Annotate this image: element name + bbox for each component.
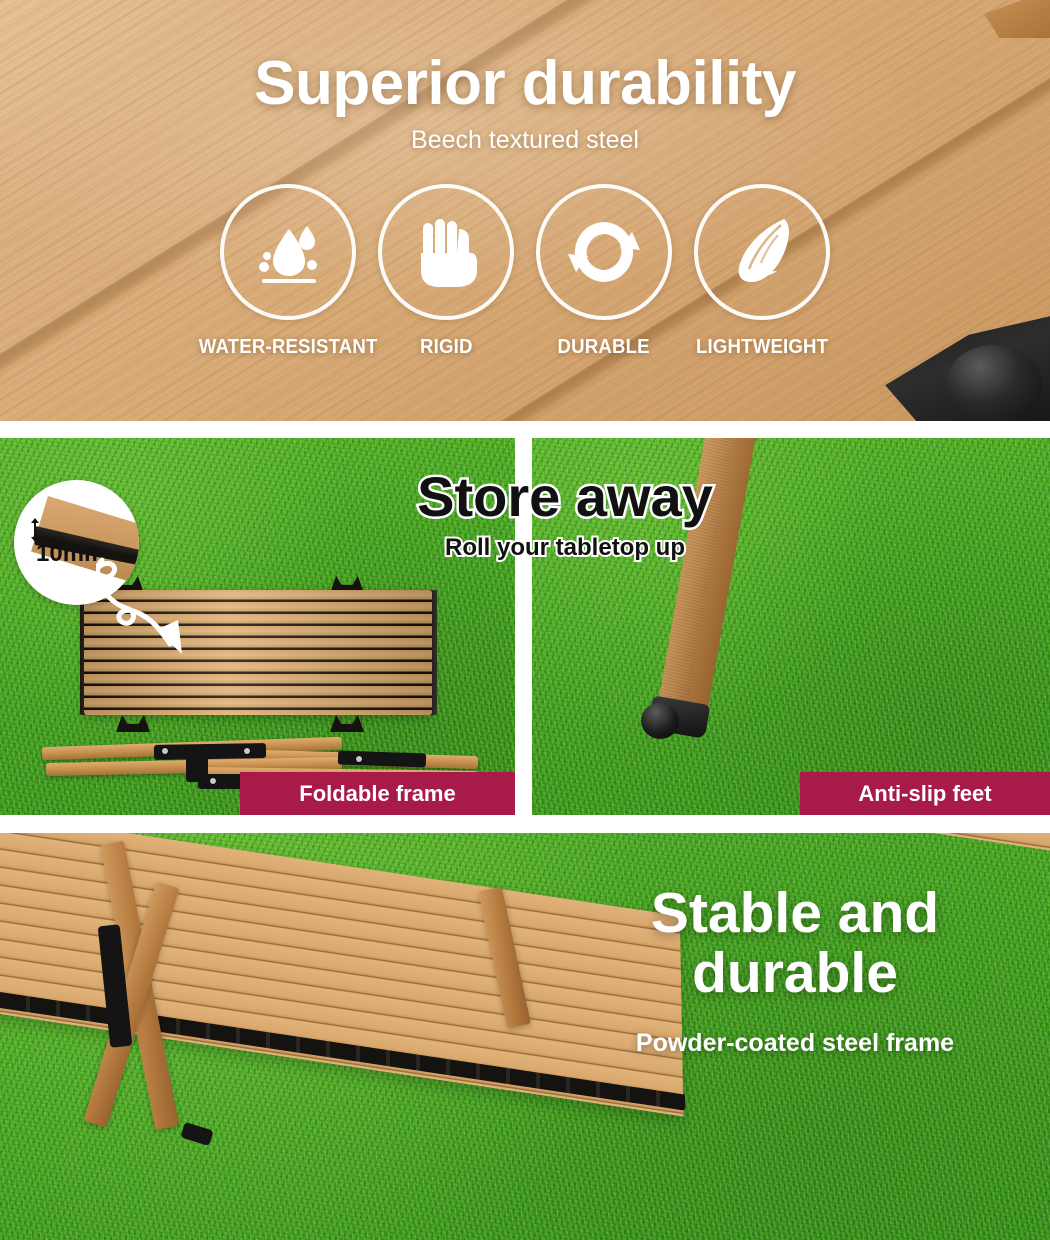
refresh-cycle-icon [536, 184, 672, 320]
bottom-title: Stable and durable [560, 883, 1030, 1004]
bottom-section: Stable and durable Powder-coated steel f… [0, 833, 1050, 1240]
feature-water-resistant: WATER-RESISTANT [218, 184, 358, 359]
hero-section: Superior durability Beech textured steel… [0, 0, 1050, 421]
table-leg [656, 438, 757, 722]
bottom-title-line2: durable [692, 941, 898, 1005]
bottom-title-line1: Stable and [651, 881, 939, 945]
callout-measurement: 10mm [36, 540, 105, 568]
leg-foot [180, 1122, 213, 1146]
bottom-subtitle: Powder-coated steel frame [560, 1029, 1030, 1058]
table-surface-right [600, 833, 1050, 861]
frame-rivet [210, 778, 216, 784]
table-clip [116, 715, 150, 732]
anti-slip-feet-panel: Anti-slip feet [532, 438, 1050, 815]
foldable-frame-panel: 10mm Foldable frame [0, 438, 515, 815]
feature-badge-row: WATER-RESISTANT RIGID [0, 184, 1050, 359]
frame-rivet [356, 756, 362, 762]
feature-durable: DURABLE [534, 184, 674, 359]
measure-arrow-icon [34, 522, 36, 538]
roll-direction-arrow-icon [96, 556, 226, 656]
anti-slip-feet-banner: Anti-slip feet [800, 772, 1050, 815]
feature-lightweight: LIGHTWEIGHT [692, 184, 832, 359]
foldable-frame-banner: Foldable frame [240, 772, 515, 815]
feature-label: LIGHTWEIGHT [696, 336, 828, 359]
frame-rivet [244, 748, 250, 754]
frame-rivet [162, 748, 168, 754]
feature-label: DURABLE [558, 336, 650, 359]
feature-label: WATER-RESISTANT [199, 336, 378, 359]
fist-icon [378, 184, 514, 320]
feature-rigid: RIGID [376, 184, 516, 359]
hero-title: Superior durability [0, 48, 1050, 119]
wood-corner-accent [984, 0, 1050, 38]
feather-icon [694, 184, 830, 320]
middle-section: 10mm Foldable frame Anti-slip feet [0, 438, 1050, 815]
feature-label: RIGID [420, 336, 473, 359]
water-drop-icon [220, 184, 356, 320]
hero-subtitle: Beech textured steel [0, 126, 1050, 155]
table-clip [330, 715, 364, 732]
